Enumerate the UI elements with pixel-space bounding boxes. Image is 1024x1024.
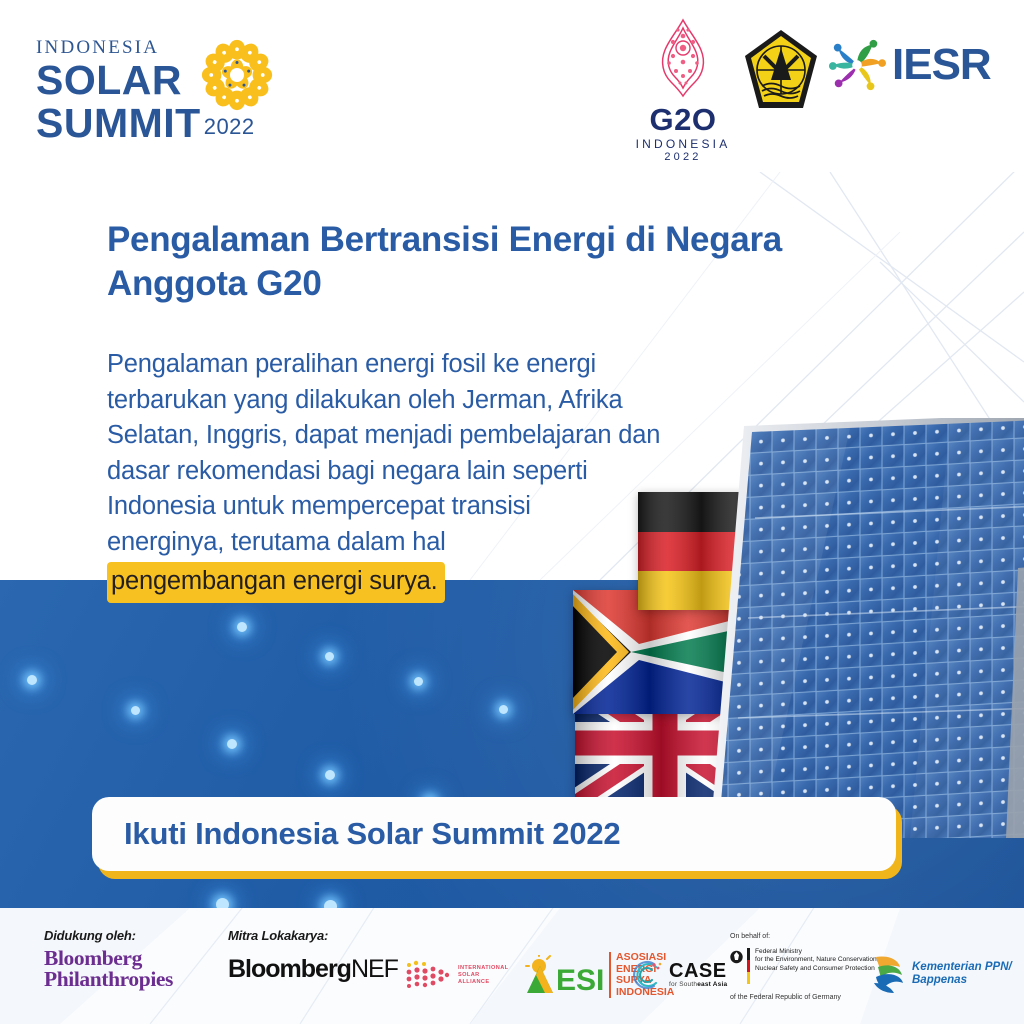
body-line-0: Pengalaman peralihan energi fosil ke ene…: [107, 347, 797, 383]
bloomberg-philanthropies-logo: Bloomberg Philanthropies: [44, 948, 173, 990]
body-line-3: dasar rekomendasi bagi negara lain seper…: [107, 454, 797, 490]
isa-line3: ALLIANCE: [458, 979, 508, 986]
case-sub-bold: east Asia: [697, 981, 727, 988]
glow-node: [237, 622, 247, 632]
cta-card[interactable]: Ikuti Indonesia Solar Summit 2022: [92, 797, 896, 871]
glow-node: [216, 898, 229, 908]
g20-batik-icon: [647, 18, 719, 98]
iesr-swirl-icon: [828, 36, 886, 94]
bloombergnef-logo: BloombergNEF: [228, 955, 398, 984]
supported-by-label: Didukung oleh:: [44, 928, 173, 943]
glow-node: [325, 652, 334, 661]
glow-node: [414, 677, 423, 686]
bnef-bold: Bloomberg: [228, 955, 351, 983]
logo-line-summit: SUMMIT: [36, 103, 201, 143]
body-paragraph: Pengalaman peralihan energi fosil ke ene…: [107, 347, 797, 603]
isa-logo-icon: [403, 960, 455, 990]
republic-label: of the Federal Republic of Germany: [730, 993, 879, 1002]
case-logo-icon: [632, 960, 664, 990]
glow-node: [325, 770, 335, 780]
case-sub-prefix: for South: [669, 981, 697, 988]
isa-logo: INTERNATIONAL SOLAR ALLIANCE: [403, 958, 513, 992]
aesi-logo-icon: ESI: [523, 955, 607, 995]
bloomberg-line1: Bloomberg: [44, 948, 173, 969]
indonesia-solar-summit-logo: INDONESIA SOLAR SUMMIT 2022: [36, 38, 266, 150]
isa-wordmark: INTERNATIONAL SOLAR ALLIANCE: [458, 965, 508, 986]
logo-year: 2022: [204, 114, 255, 140]
glow-node: [227, 739, 237, 749]
german-flag-bar: [747, 948, 750, 984]
svg-text:ESI: ESI: [556, 964, 604, 995]
header-bar: INDONESIA SOLAR SUMMIT 2022: [0, 0, 1024, 172]
ministry-line2: for the Environment, Nature Conservation…: [755, 956, 879, 964]
ministry-name: Federal Ministry for the Environment, Na…: [755, 948, 879, 973]
bappenas-logo: Kementerian PPN/ Bappenas: [868, 952, 1018, 996]
case-wordmark: CASE: [669, 961, 727, 981]
iesr-wordmark: IESR: [892, 43, 991, 87]
bappenas-wordmark: Kementerian PPN/ Bappenas: [912, 961, 1012, 987]
esdm-emblem-icon: [742, 28, 820, 112]
bappenas-icon: [868, 953, 908, 995]
glow-node: [324, 900, 337, 908]
german-eagle-icon: [730, 948, 743, 974]
iesr-logo: IESR: [828, 34, 1004, 96]
supported-by-block: Didukung oleh: Bloomberg Philanthropies: [44, 928, 173, 990]
isa-line2: SOLAR: [458, 972, 508, 979]
glow-node: [499, 705, 508, 714]
on-behalf-label: On behalf of:: [730, 932, 879, 941]
ministry-line3: Nuclear Safety and Consumer Protection: [755, 965, 879, 973]
body-line-4: Indonesia untuk mempercepat transisi: [107, 489, 797, 525]
page-title: Pengalaman Bertransisi Energi di Negara …: [107, 218, 867, 306]
ppn-line1: Kementerian PPN/: [912, 961, 1012, 974]
bnef-thin: NEF: [351, 955, 398, 983]
case-subtitle: for Southeast Asia: [669, 981, 727, 989]
partner-block: Mitra Lokakarya: BloombergNEF: [228, 928, 398, 984]
case-logo: CASE for Southeast Asia: [632, 958, 740, 992]
poster-root: INDONESIA SOLAR SUMMIT 2022: [0, 0, 1024, 1024]
glow-node: [131, 706, 140, 715]
g20-year: 2022: [628, 151, 738, 164]
headline-text: Pengalaman Bertransisi Energi di Negara …: [107, 220, 782, 303]
body-line-1: terbarukan yang dilakukan oleh Jerman, A…: [107, 383, 797, 419]
bloomberg-line2: Philanthropies: [44, 969, 173, 990]
glow-node: [27, 675, 37, 685]
ppn-line2: Bappenas: [912, 974, 1012, 987]
ministry-line1: Federal Ministry: [755, 948, 879, 956]
highlighted-phrase: pengembangan energi surya.: [107, 562, 445, 603]
cta-banner[interactable]: Ikuti Indonesia Solar Summit 2022: [92, 797, 896, 871]
body-line-5: energinya, terutama dalam hal: [107, 525, 797, 561]
sun-mandala-icon: [198, 36, 276, 114]
isa-line1: INTERNATIONAL: [458, 965, 508, 972]
partner-label: Mitra Lokakarya:: [228, 928, 398, 943]
g20-country: INDONESIA: [628, 137, 738, 151]
cta-label: Ikuti Indonesia Solar Summit 2022: [124, 816, 620, 852]
g20-logo: G2O INDONESIA 2022: [628, 18, 738, 150]
g20-wordmark: G2O: [628, 105, 738, 135]
body-line-2: Selatan, Inggris, dapat menjadi pembelaj…: [107, 418, 797, 454]
bmu-block: On behalf of: Federal Ministry for the E…: [730, 932, 879, 1002]
